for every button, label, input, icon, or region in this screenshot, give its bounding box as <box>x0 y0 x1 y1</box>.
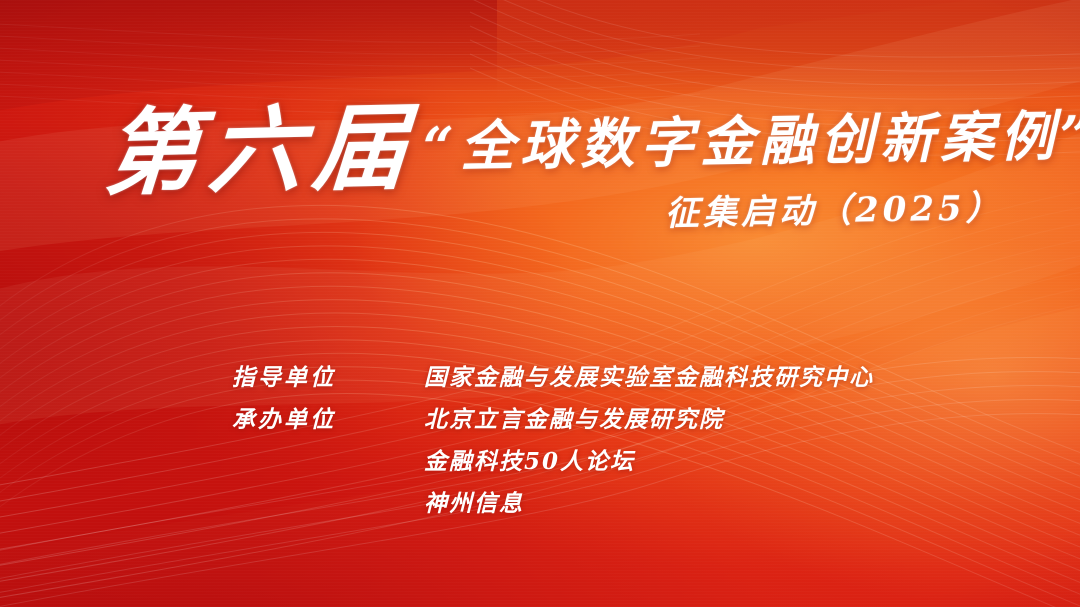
main-title: “全球数字金融创新案例” <box>423 108 1080 174</box>
credit-row: 承办单位 北京立言金融与发展研究院 <box>232 400 874 442</box>
poster-content: 第六届 “全球数字金融创新案例” 征集启动（2025） 指导单位 国家金融与发展… <box>0 0 1080 607</box>
credit-value: 神州信息 <box>424 484 524 518</box>
subtitle-year: 征集启动（2025） <box>665 191 1004 231</box>
poster-canvas: 第六届 “全球数字金融创新案例” 征集启动（2025） 指导单位 国家金融与发展… <box>0 0 1080 607</box>
credits-block: 指导单位 国家金融与发展实验室金融科技研究中心 承办单位 北京立言金融与发展研究… <box>232 358 874 526</box>
credit-label: 承办单位 <box>232 400 424 434</box>
credit-row: 神州信息 <box>232 484 874 526</box>
credit-value: 北京立言金融与发展研究院 <box>424 400 724 434</box>
credit-label: 指导单位 <box>232 358 424 392</box>
edition-number: 第六届 <box>102 101 421 202</box>
credit-row: 金融科技50人论坛 <box>232 442 874 484</box>
credit-row: 指导单位 国家金融与发展实验室金融科技研究中心 <box>232 358 874 400</box>
headline-block: 第六届 “全球数字金融创新案例” 征集启动（2025） <box>105 108 1045 220</box>
credit-value: 国家金融与发展实验室金融科技研究中心 <box>424 358 874 392</box>
credit-value: 金融科技50人论坛 <box>424 442 635 476</box>
